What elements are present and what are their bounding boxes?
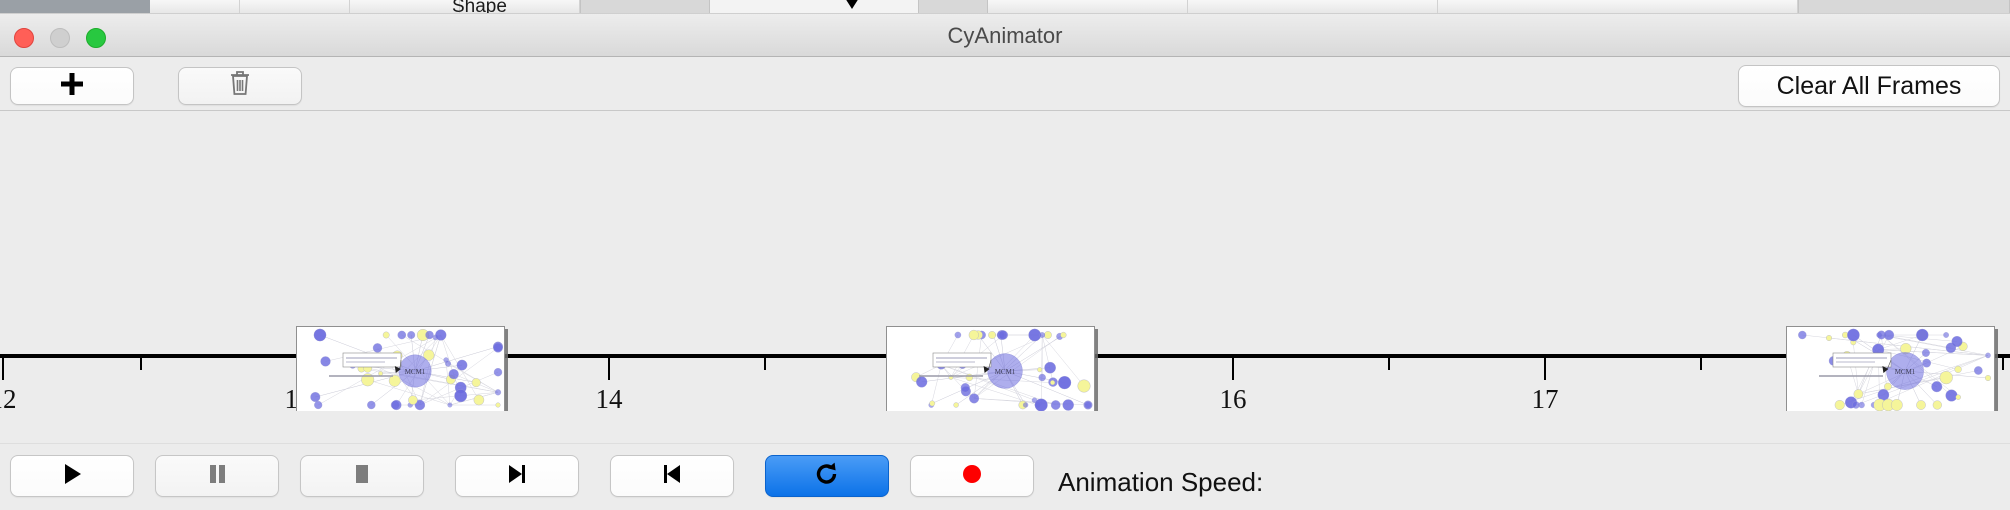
stop-icon	[349, 461, 375, 491]
svg-text:MCM1: MCM1	[405, 368, 426, 376]
timeline-tick	[1544, 358, 1546, 380]
background-window-label: Shape	[452, 0, 507, 14]
svg-text:MCM1: MCM1	[1895, 368, 1916, 376]
timeline-tick	[2002, 358, 2004, 370]
skip-backward-icon	[504, 461, 530, 491]
cursor-icon	[845, 0, 859, 9]
svg-text:MCM1: MCM1	[995, 368, 1016, 376]
timeline-tick	[140, 358, 142, 370]
timeline-frame-thumbnail[interactable]: MCM1	[1786, 326, 1995, 411]
record-button[interactable]	[910, 455, 1034, 497]
skip-forward-button[interactable]	[610, 455, 734, 497]
cyanimator-window: Shape CyAnimator	[0, 0, 2010, 510]
titlebar: CyAnimator	[0, 14, 2010, 57]
timeline-tick-label: 12	[0, 384, 17, 411]
skip-forward-icon	[659, 461, 685, 491]
timeline-frame-thumbnail[interactable]: MCM1	[886, 326, 1095, 411]
play-icon	[59, 461, 85, 491]
delete-frame-button[interactable]	[178, 67, 302, 105]
background-segment	[240, 0, 350, 14]
background-segment	[150, 0, 240, 14]
loop-icon	[813, 460, 841, 492]
record-icon	[959, 461, 985, 491]
background-scrollbar	[1798, 0, 2010, 14]
animation-speed-label: Animation Speed:	[1058, 467, 1263, 498]
background-segment	[988, 0, 1188, 14]
background-scrollbar	[918, 0, 988, 14]
background-segment	[1438, 0, 1798, 14]
timeline-tick	[1232, 358, 1234, 380]
clear-all-frames-label: Clear All Frames	[1777, 72, 1962, 101]
background-segment	[350, 0, 460, 14]
timeline-tick	[608, 358, 610, 380]
add-frame-button[interactable]	[10, 67, 134, 105]
toolbar: Clear All Frames	[0, 57, 2010, 111]
timeline-frame-thumbnail[interactable]: MCM1	[296, 326, 505, 411]
background-dark-block	[0, 0, 150, 14]
play-button[interactable]	[10, 455, 134, 497]
timeline-tick-label: 14	[596, 384, 623, 411]
timeline-track[interactable]: 12131415161718 MCM1 MCM1 MCM1	[0, 111, 2010, 411]
loop-button[interactable]	[765, 455, 889, 497]
trash-icon	[228, 69, 252, 103]
stop-button[interactable]	[300, 455, 424, 497]
timeline-tick-label: 16	[1220, 384, 1247, 411]
background-scrollbar	[580, 0, 710, 14]
page-title: CyAnimator	[0, 14, 2010, 57]
plus-icon	[59, 69, 85, 103]
timeline-panel[interactable]: 12131415161718 MCM1 MCM1 MCM1	[0, 111, 2010, 411]
pause-button[interactable]	[155, 455, 279, 497]
timeline-tick	[2, 358, 4, 380]
clear-all-frames-button[interactable]: Clear All Frames	[1738, 65, 2000, 107]
timeline-tick-label: 17	[1532, 384, 1559, 411]
playback-controls: Animation Speed:	[0, 443, 2010, 510]
timeline-tick	[1700, 358, 1702, 370]
background-segment	[1188, 0, 1438, 14]
skip-backward-button[interactable]	[455, 455, 579, 497]
background-window-strip: Shape	[0, 0, 2010, 14]
timeline-tick	[1388, 358, 1390, 370]
pause-icon	[204, 461, 230, 491]
timeline-tick	[764, 358, 766, 370]
